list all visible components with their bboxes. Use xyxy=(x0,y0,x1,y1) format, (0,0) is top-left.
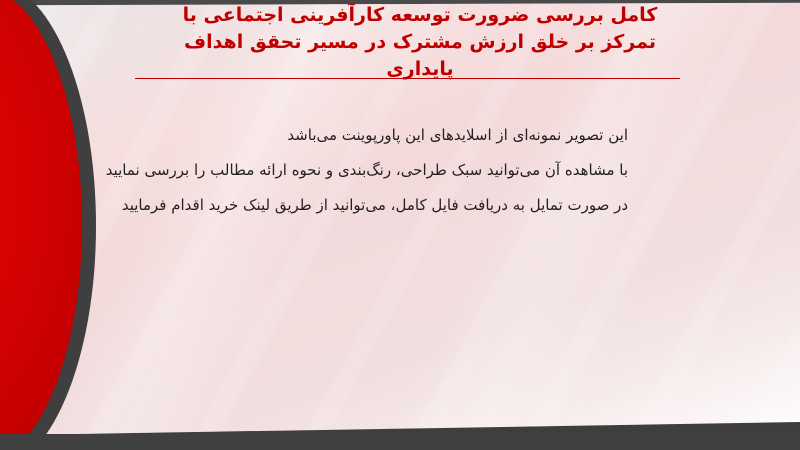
body-line-3: در صورت تمایل به دریافت فایل کامل، می‌تو… xyxy=(106,188,628,223)
slide-title-line-1: کامل بررسی ضرورت توسعه کارآفرینی اجتماعی… xyxy=(120,2,720,29)
slide-title-line-2: تمرکز بر خلق ارزش مشترک در مسیر تحقق اهد… xyxy=(120,29,720,56)
body-line-2: با مشاهده آن می‌توانید سبک طراحی، رنگ‌بن… xyxy=(106,153,628,188)
presentation-slide: کامل بررسی ضرورت توسعه کارآفرینی اجتماعی… xyxy=(0,0,800,450)
slide-body-text: این تصویر نمونه‌ای از اسلایدهای این پاور… xyxy=(106,118,628,223)
slide-bottom-band xyxy=(0,434,800,450)
body-line-1: این تصویر نمونه‌ای از اسلایدهای این پاور… xyxy=(106,118,628,153)
title-divider-rule xyxy=(135,78,680,79)
slide-title: کامل بررسی ضرورت توسعه کارآفرینی اجتماعی… xyxy=(120,2,720,83)
